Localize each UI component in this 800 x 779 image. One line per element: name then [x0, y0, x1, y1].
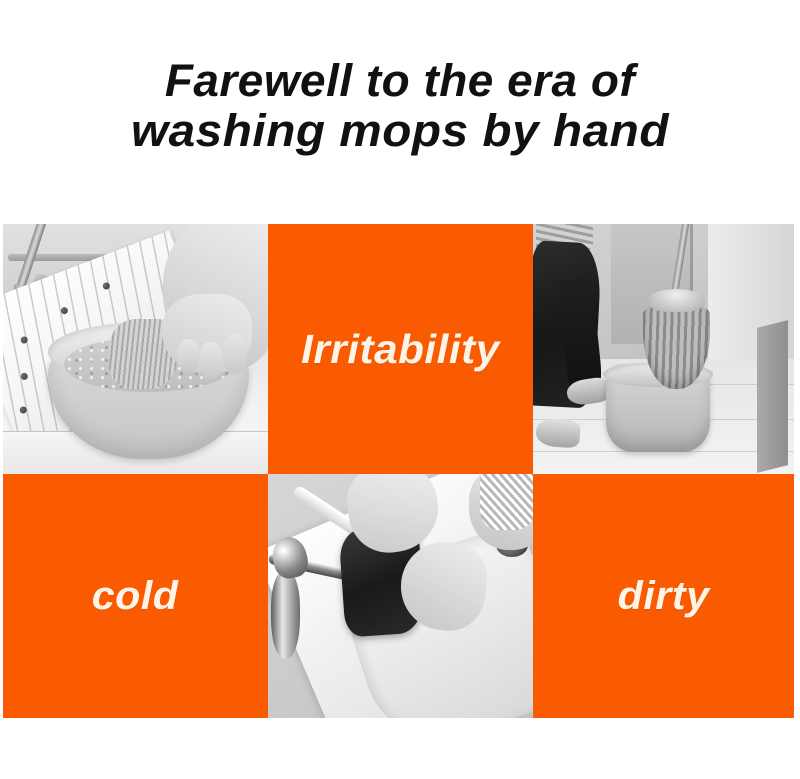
- collage-cell-photo-basin: [3, 224, 268, 474]
- finger: [178, 339, 199, 372]
- mop-head-cap: [648, 289, 705, 312]
- label-cold: cold: [92, 574, 179, 619]
- page-title: Farewell to the era of washing mops by h…: [0, 56, 800, 156]
- finger: [199, 342, 223, 380]
- collage-cell-label-cold: cold: [3, 474, 268, 718]
- image-collage-grid: Irritability: [3, 224, 794, 718]
- photo-baseboard: [757, 320, 788, 473]
- headline-line-2: washing mops by hand: [0, 106, 800, 156]
- headline-line-1: Farewell to the era of: [0, 56, 800, 106]
- label-dirty: dirty: [618, 574, 710, 619]
- label-irritability: Irritability: [301, 326, 500, 373]
- collage-cell-photo-bucket: [533, 224, 794, 474]
- collage-cell-photo-sink: [268, 474, 533, 718]
- collage-cell-label-dirty: dirty: [533, 474, 794, 718]
- knit-sleeve-cuff: [480, 474, 533, 530]
- finger: [223, 334, 247, 374]
- collage-cell-label-irritability: Irritability: [268, 224, 533, 474]
- photo-hands-washing-mop-in-basin: [3, 224, 268, 474]
- photo-hands-wringing-cloth-at-sink: [268, 474, 533, 718]
- photo-person-dipping-mop-in-bucket: [533, 224, 794, 474]
- poster-canvas: Farewell to the era of washing mops by h…: [0, 0, 800, 779]
- faucet-body: [271, 572, 300, 660]
